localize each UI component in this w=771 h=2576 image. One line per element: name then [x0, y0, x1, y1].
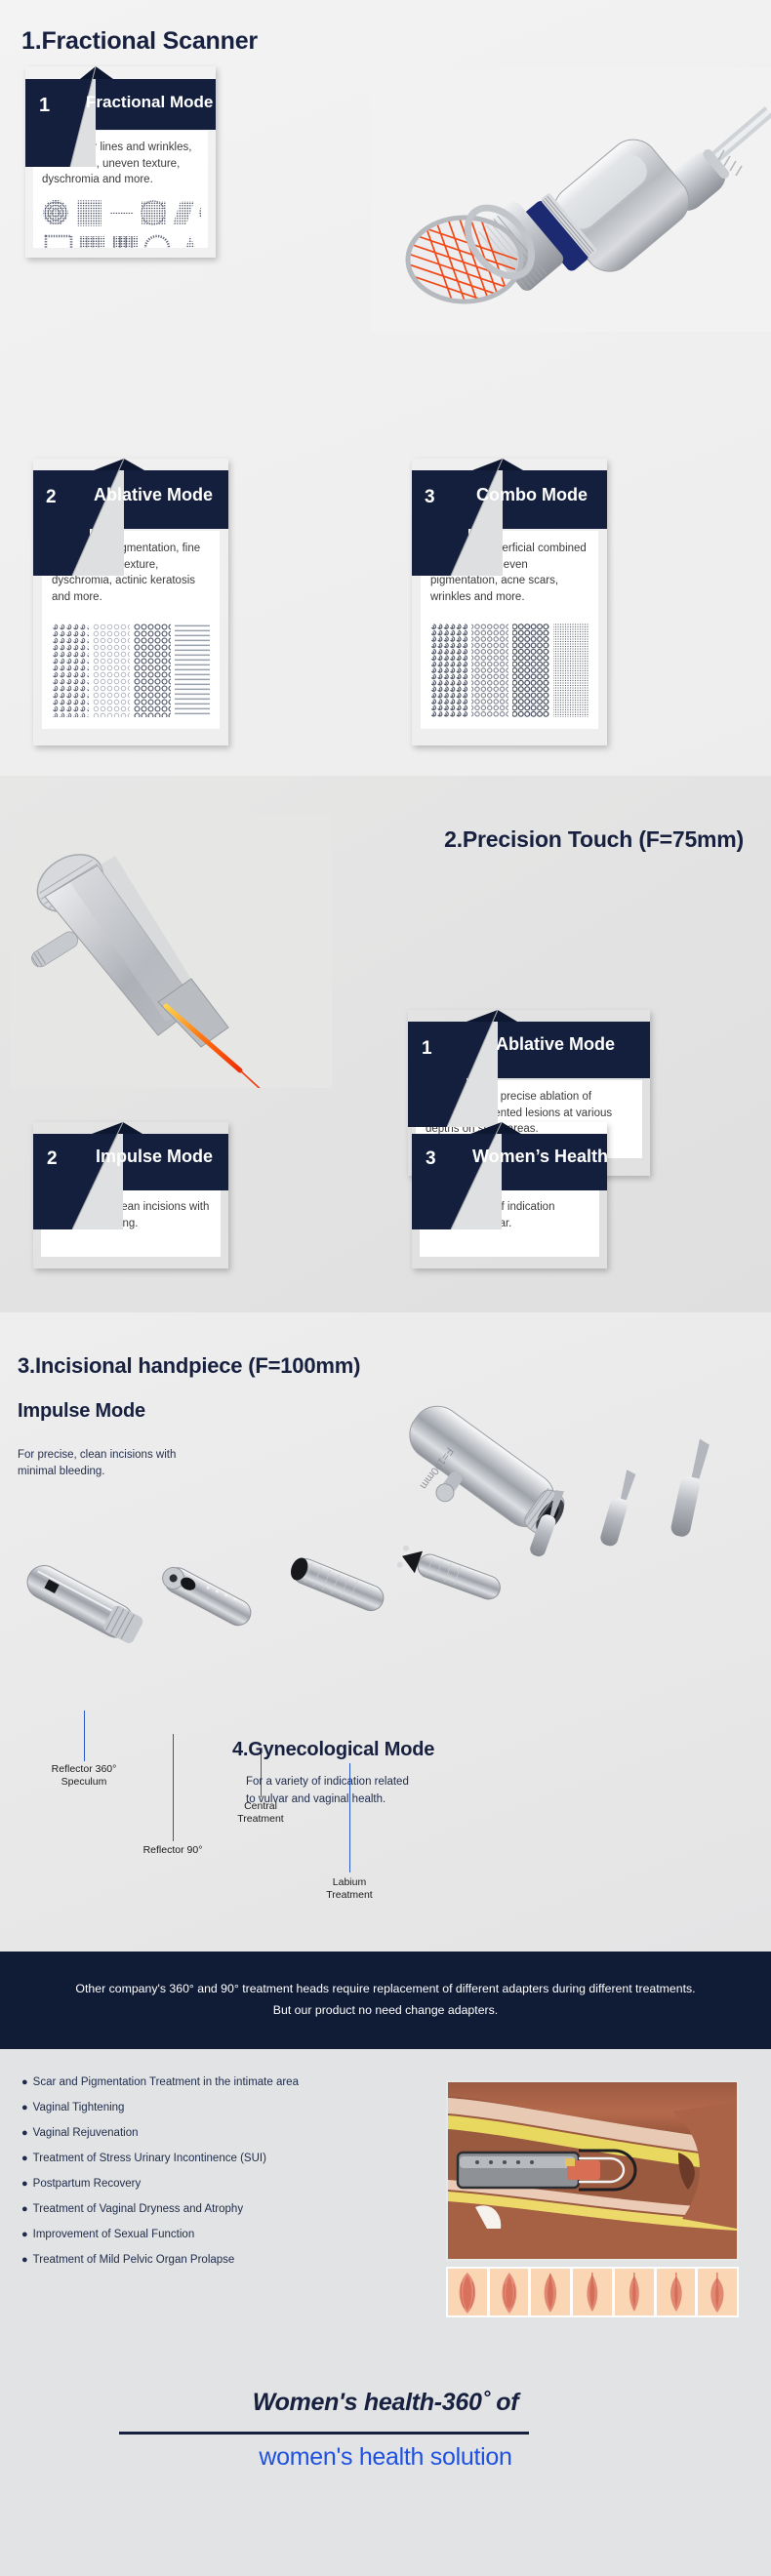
- card-number: 1: [39, 96, 50, 115]
- list-item-label: Scar and Pigmentation Treatment in the i…: [33, 2076, 299, 2088]
- list-item-label: Vaginal Tightening: [33, 2102, 125, 2113]
- list-item: ●Improvement of Sexual Function: [21, 2229, 441, 2240]
- leader-line-reflector-360: [84, 1711, 85, 1761]
- bullet-icon: ●: [21, 2254, 28, 2266]
- treatment-stage-thumbnails: [446, 2267, 739, 2317]
- card-number: 2: [47, 1149, 58, 1168]
- thumbnail-stage-7: [698, 2269, 737, 2315]
- pattern-swatches: [52, 624, 210, 721]
- card-title: Women’s Health: [472, 1147, 608, 1165]
- callout-reflector-360-speculum: Reflector 360° Speculum: [16, 1763, 152, 1789]
- card-fold-notch: [412, 459, 607, 578]
- card-impulse-mode: 2 Impulse Mode For precise, clean incisi…: [33, 1122, 228, 1268]
- card-fold-notch: [408, 1010, 650, 1129]
- card-number: 1: [422, 1039, 432, 1058]
- banner-text: Other company's 360° and 90° treatment h…: [68, 1979, 703, 2021]
- thumbnail-stage-3: [531, 2269, 570, 2315]
- bullet-icon: ●: [21, 2229, 28, 2240]
- handpiece-probes-photo: F=100mm: [0, 1312, 771, 1751]
- comparison-banner: Other company's 360° and 90° treatment h…: [0, 1952, 771, 2049]
- footer-tagline: Women's health-360˚ of women's health so…: [0, 2342, 771, 2576]
- bullet-icon: ●: [21, 2203, 28, 2215]
- tagline-underline: [119, 2432, 529, 2435]
- card-number: 3: [425, 488, 435, 506]
- card-title: Impulse Mode: [96, 1147, 213, 1165]
- card-fold-notch: [25, 66, 216, 169]
- list-item: ●Postpartum Recovery: [21, 2178, 441, 2190]
- card-combo-mode: 3 Combo Mode Deep and Superficial combin…: [412, 459, 607, 745]
- list-item-label: Treatment of Mild Pelvic Organ Prolapse: [33, 2254, 235, 2266]
- card-title: Ablative Mode: [496, 1035, 615, 1053]
- list-item: ●Scar and Pigmentation Treatment in the …: [21, 2076, 441, 2088]
- anatomy-illustration: [446, 2080, 739, 2261]
- bullet-icon: ●: [21, 2076, 28, 2088]
- card-title: Fractional Mode: [86, 94, 213, 110]
- section-indications: ●Scar and Pigmentation Treatment in the …: [0, 2049, 771, 2342]
- list-item: ●Treatment of Mild Pelvic Organ Prolapse: [21, 2254, 441, 2266]
- tagline-line-2: women's health solution: [0, 2443, 771, 2472]
- thumbnail-stage-6: [657, 2269, 696, 2315]
- section2-title: 2.Precision Touch (F=75mm): [444, 826, 744, 853]
- card-title: Ablative Mode: [94, 486, 213, 503]
- card-title: Combo Mode: [476, 486, 588, 503]
- list-item-label: Treatment of Stress Urinary Incontinence…: [33, 2153, 266, 2164]
- list-item: ●Treatment of Stress Urinary Incontinenc…: [21, 2153, 441, 2164]
- list-item-label: Vaginal Rejuvenation: [33, 2127, 139, 2139]
- list-item: ●Vaginal Rejuvenation: [21, 2127, 441, 2139]
- precision-touch-photo: [10, 815, 332, 1088]
- section-precision-touch: 2.Precision Touch (F=75mm): [0, 776, 771, 1312]
- list-item: ●Vaginal Tightening: [21, 2102, 441, 2113]
- callout-reflector-90: Reflector 90°: [109, 1844, 236, 1857]
- thumbnail-stage-1: [448, 2269, 487, 2315]
- card-fractional-mode: 1 Fractional Mode For deeper lines and w…: [25, 66, 216, 258]
- thumbnail-stage-4: [573, 2269, 612, 2315]
- bullet-icon: ●: [21, 2102, 28, 2113]
- thumbnail-stage-2: [490, 2269, 529, 2315]
- bullet-icon: ●: [21, 2178, 28, 2190]
- bullet-icon: ●: [21, 2127, 28, 2139]
- list-item: ●Treatment of Vaginal Dryness and Atroph…: [21, 2203, 441, 2215]
- section4-gynecological-title: 4.Gynecological Mode: [232, 1739, 434, 1761]
- card-number: 3: [426, 1149, 436, 1168]
- section-incisional-handpiece: 3.Incisional handpiece (F=100mm) Impulse…: [0, 1312, 771, 1952]
- card-number: 2: [46, 488, 57, 506]
- bullet-icon: ●: [21, 2153, 28, 2164]
- section4-gynecological-description: For a variety of indication related to v…: [246, 1774, 409, 1809]
- callout-labium-treatment: Labium Treatment: [289, 1876, 410, 1902]
- pattern-swatches: [430, 624, 588, 721]
- pattern-swatches: [42, 197, 202, 248]
- card-fold-notch: [33, 1122, 228, 1231]
- fractional-scanner-photo: [371, 68, 771, 332]
- card-fold-notch: [412, 1122, 607, 1231]
- card-ablative-mode: 2 Ablative Mode For uneven pigmentation,…: [33, 459, 228, 745]
- card-fold-notch: [33, 459, 228, 578]
- section-fractional-scanner: 1.Fractional Scanner: [0, 0, 771, 776]
- list-item-label: Treatment of Vaginal Dryness and Atrophy: [33, 2203, 243, 2215]
- thumbnail-stage-5: [615, 2269, 654, 2315]
- list-item-label: Improvement of Sexual Function: [33, 2229, 195, 2240]
- list-item-label: Postpartum Recovery: [33, 2178, 142, 2190]
- indications-list: ●Scar and Pigmentation Treatment in the …: [21, 2076, 441, 2279]
- card-womens-health: 3 Women’s Health For a variety of indica…: [412, 1122, 607, 1268]
- leader-line-reflector-90: [173, 1734, 174, 1841]
- section1-title: 1.Fractional Scanner: [21, 27, 258, 56]
- tagline-line-1: Women's health-360˚ of: [0, 2389, 771, 2417]
